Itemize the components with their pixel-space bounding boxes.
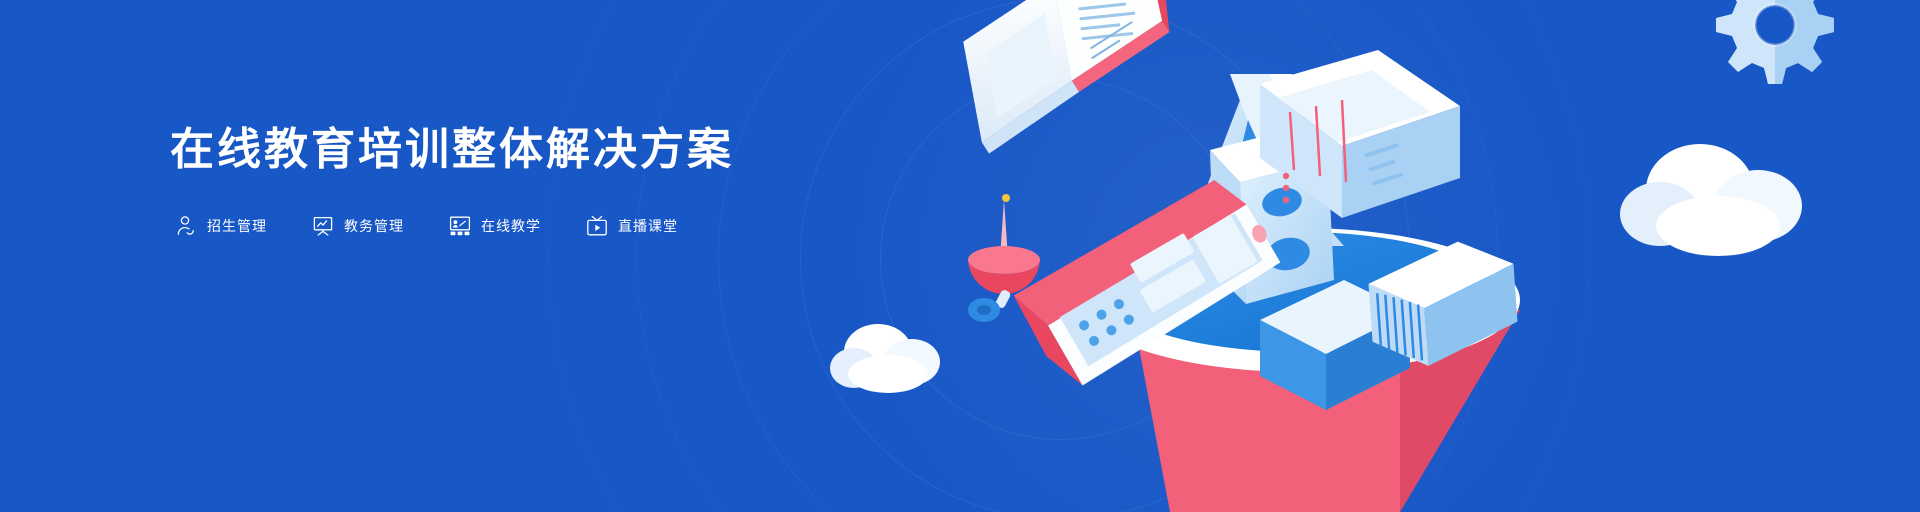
isometric-education-illustration bbox=[700, 0, 1920, 512]
open-book bbox=[958, 0, 1180, 155]
feature-label: 在线教学 bbox=[481, 216, 541, 236]
feature-item-online-teaching[interactable]: 在线教学 bbox=[448, 214, 541, 238]
feature-item-academic-affairs[interactable]: 教务管理 bbox=[311, 214, 404, 238]
tv-play-icon bbox=[585, 214, 609, 238]
gear-icon bbox=[1716, 0, 1834, 84]
page-title: 在线教育培训整体解决方案 bbox=[170, 128, 734, 172]
classroom-board-icon bbox=[448, 214, 472, 238]
hero-banner: 在线教育培训整体解决方案 招生管理 bbox=[0, 0, 1920, 512]
feature-label: 教务管理 bbox=[344, 216, 404, 236]
cloud-small bbox=[830, 324, 940, 393]
cloud-large bbox=[1620, 144, 1802, 256]
feature-label: 招生管理 bbox=[207, 216, 267, 236]
feature-list: 招生管理 教务管理 bbox=[170, 214, 734, 238]
feature-label: 直播课堂 bbox=[618, 216, 678, 236]
presentation-chart-icon bbox=[311, 214, 335, 238]
feature-item-live-classroom[interactable]: 直播课堂 bbox=[585, 214, 678, 238]
feature-item-enrollment[interactable]: 招生管理 bbox=[174, 214, 267, 238]
hero-copy: 在线教育培训整体解决方案 招生管理 bbox=[170, 128, 734, 238]
user-add-icon bbox=[174, 214, 198, 238]
